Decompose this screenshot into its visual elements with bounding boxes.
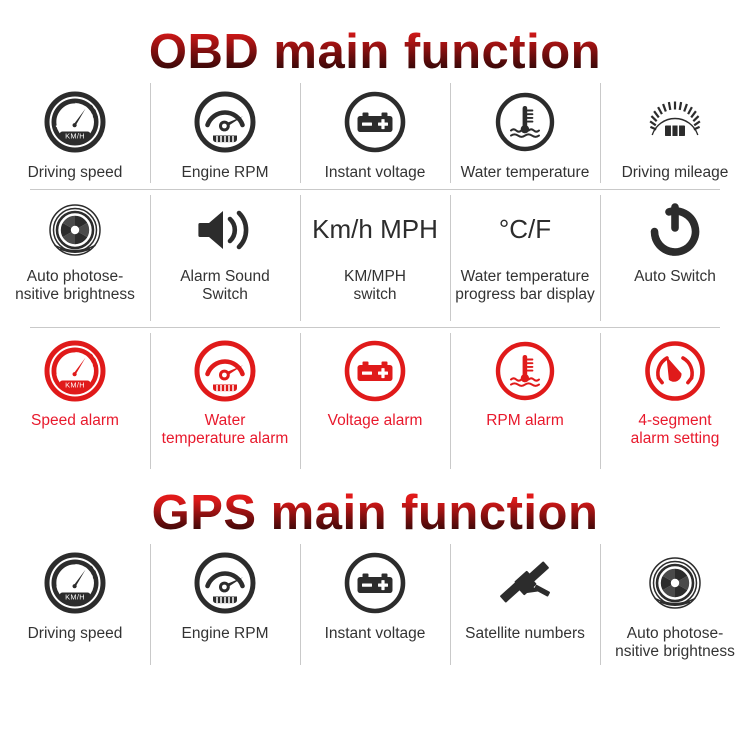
feature-cell-water-temp-progress-bar[interactable]: °C/F Water temperature progress bar disp… — [450, 189, 600, 327]
gps-section-title: GPS main function — [0, 475, 750, 538]
obd-row-1: KM/H Driving speed — [0, 77, 750, 189]
feature-cell-satellite-numbers[interactable]: Satellite numbers — [450, 538, 600, 671]
feature-cell-auto-switch[interactable]: Auto Switch — [600, 189, 750, 327]
feature-cell-driving-mileage[interactable]: Driving mileage — [600, 77, 750, 189]
feature-label: Water temperature progress bar display — [455, 268, 595, 305]
tachometer-icon — [194, 548, 256, 618]
feature-label: Driving speed — [28, 164, 123, 182]
speaker-icon — [194, 199, 256, 261]
svg-text:KM/H: KM/H — [65, 593, 85, 602]
feature-label: Voltage alarm — [328, 412, 423, 430]
obd-section-title: OBD main function — [0, 0, 750, 77]
feature-cell-gps-instant-voltage[interactable]: Instant voltage — [300, 538, 450, 671]
gps-section: GPS main function — [0, 475, 750, 671]
feature-label: Water temperature alarm — [162, 412, 289, 449]
odometer-icon — [644, 87, 706, 157]
obd-section: OBD main function — [0, 0, 750, 475]
aperture-icon — [45, 199, 105, 261]
feature-label: Instant voltage — [325, 625, 426, 643]
infographic-page: OBD main function — [0, 0, 750, 750]
tachometer-alarm-icon — [194, 337, 256, 405]
feature-label: Water temperature — [461, 164, 590, 182]
feature-cell-water-temperature[interactable]: Water temperature — [450, 77, 600, 189]
feature-label: Auto photose- nsitive brightness — [15, 268, 135, 305]
feature-cell-4-segment-alarm-setting[interactable]: 4-segment alarm setting — [600, 327, 750, 475]
feature-label: KM/MPH switch — [344, 268, 406, 305]
feature-cell-gps-driving-speed[interactable]: KM/H Driving speed — [0, 538, 150, 671]
feature-label: Driving mileage — [622, 164, 729, 182]
coolant-temp-alarm-icon — [494, 337, 556, 405]
power-icon — [648, 199, 702, 261]
feature-label: Auto Switch — [634, 268, 716, 286]
speedometer-icon: KM/H — [44, 548, 106, 618]
feature-cell-gps-engine-rpm[interactable]: Engine RPM — [150, 538, 300, 671]
feature-label: Alarm Sound Switch — [180, 268, 270, 305]
celsius-fahrenheit-text: °C/F — [499, 216, 551, 243]
battery-icon — [344, 548, 406, 618]
gps-row-1: KM/H Driving speed — [0, 538, 750, 671]
feature-cell-instant-voltage[interactable]: Instant voltage — [300, 77, 450, 189]
feature-label: 4-segment alarm setting — [631, 412, 720, 449]
battery-alarm-icon — [344, 337, 406, 405]
kmh-mph-text-icon: Km/h MPH — [312, 199, 438, 261]
gauge-needle-alarm-icon — [644, 337, 706, 405]
feature-label: Satellite numbers — [465, 625, 585, 643]
speedometer-icon: KM/H — [44, 87, 106, 157]
tachometer-icon — [194, 87, 256, 157]
feature-cell-water-temperature-alarm[interactable]: Water temperature alarm — [150, 327, 300, 475]
speedometer-alarm-icon: KM/H — [44, 337, 106, 405]
feature-cell-rpm-alarm[interactable]: RPM alarm — [450, 327, 600, 475]
feature-cell-gps-auto-photosensitive-brightness[interactable]: Auto photose- nsitive brightness — [600, 538, 750, 671]
feature-cell-alarm-sound-switch[interactable]: Alarm Sound Switch — [150, 189, 300, 327]
satellite-icon — [494, 548, 556, 618]
obd-feature-grid: KM/H Driving speed — [0, 77, 750, 475]
svg-text:KM/H: KM/H — [65, 132, 85, 141]
obd-row-3-alarm: KM/H Speed alarm — [0, 327, 750, 475]
feature-label: Engine RPM — [181, 164, 268, 182]
gps-feature-grid: KM/H Driving speed — [0, 538, 750, 671]
feature-label: RPM alarm — [486, 412, 564, 430]
feature-cell-speed-alarm[interactable]: KM/H Speed alarm — [0, 327, 150, 475]
feature-label: Speed alarm — [31, 412, 119, 430]
coolant-temp-icon — [494, 87, 556, 157]
celsius-fahrenheit-text-icon: °C/F — [499, 199, 551, 261]
feature-label: Auto photose- nsitive brightness — [615, 625, 735, 662]
feature-cell-voltage-alarm[interactable]: Voltage alarm — [300, 327, 450, 475]
feature-label: Instant voltage — [325, 164, 426, 182]
battery-icon — [344, 87, 406, 157]
feature-label: Engine RPM — [181, 625, 268, 643]
feature-cell-km-mph-switch[interactable]: Km/h MPH KM/MPH switch — [300, 189, 450, 327]
svg-text:KM/H: KM/H — [65, 381, 85, 390]
feature-cell-driving-speed[interactable]: KM/H Driving speed — [0, 77, 150, 189]
feature-cell-auto-photosensitive-brightness[interactable]: Auto photose- nsitive brightness — [0, 189, 150, 327]
obd-row-2: Auto photose- nsitive brightness Alarm S… — [0, 189, 750, 327]
feature-cell-engine-rpm[interactable]: Engine RPM — [150, 77, 300, 189]
feature-label: Driving speed — [28, 625, 123, 643]
kmh-mph-text: Km/h MPH — [312, 216, 438, 243]
aperture-icon — [645, 548, 705, 618]
